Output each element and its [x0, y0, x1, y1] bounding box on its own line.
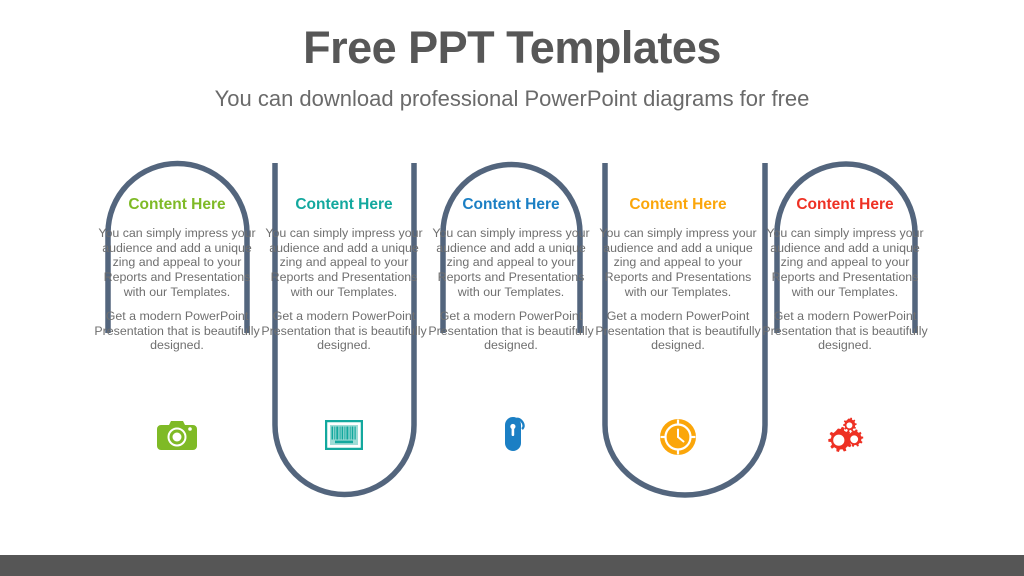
column-body: You can simply impress your audience and…: [761, 226, 929, 353]
column-body: You can simply impress your audience and…: [427, 226, 595, 353]
column-heading: Content Here: [761, 196, 929, 214]
column-heading: Content Here: [594, 196, 762, 214]
icon-slot-3: [427, 416, 595, 459]
content-column-4: Content Here You can simply impress your…: [594, 196, 762, 353]
computer-mouse-icon: [494, 416, 528, 454]
content-column-3: Content Here You can simply impress your…: [427, 196, 595, 353]
gears-icon: [824, 416, 866, 454]
column-paragraph-1: You can simply impress your audience and…: [594, 226, 762, 299]
content-column-1: Content Here You can simply impress your…: [93, 196, 261, 353]
footer-bar: [0, 555, 1024, 576]
column-paragraph-2: Get a modern PowerPoint Presentation tha…: [93, 309, 261, 353]
column-paragraph-1: You can simply impress your audience and…: [260, 226, 428, 299]
column-paragraph-2: Get a modern PowerPoint Presentation tha…: [761, 309, 929, 353]
clock-icon: [659, 418, 697, 456]
column-heading: Content Here: [427, 196, 595, 214]
barcode-icon: [325, 420, 363, 450]
column-paragraph-1: You can simply impress your audience and…: [761, 226, 929, 299]
column-paragraph-2: Get a modern PowerPoint Presentation tha…: [260, 309, 428, 353]
content-column-5: Content Here You can simply impress your…: [761, 196, 929, 353]
column-paragraph-1: You can simply impress your audience and…: [427, 226, 595, 299]
column-body: You can simply impress your audience and…: [260, 226, 428, 353]
column-body: You can simply impress your audience and…: [594, 226, 762, 353]
camera-icon: [157, 418, 197, 452]
column-paragraph-2: Get a modern PowerPoint Presentation tha…: [427, 309, 595, 353]
content-column-2: Content Here You can simply impress your…: [260, 196, 428, 353]
icon-slot-2: [260, 420, 428, 455]
icon-slot-5: [761, 416, 929, 459]
content-columns: Content Here You can simply impress your…: [0, 0, 1024, 576]
slide-canvas: Free PPT Templates You can download prof…: [0, 0, 1024, 576]
icon-slot-1: [93, 418, 261, 457]
icon-slot-4: [594, 418, 762, 461]
column-paragraph-1: You can simply impress your audience and…: [93, 226, 261, 299]
column-heading: Content Here: [93, 196, 261, 214]
column-paragraph-2: Get a modern PowerPoint Presentation tha…: [594, 309, 762, 353]
column-body: You can simply impress your audience and…: [93, 226, 261, 353]
column-heading: Content Here: [260, 196, 428, 214]
